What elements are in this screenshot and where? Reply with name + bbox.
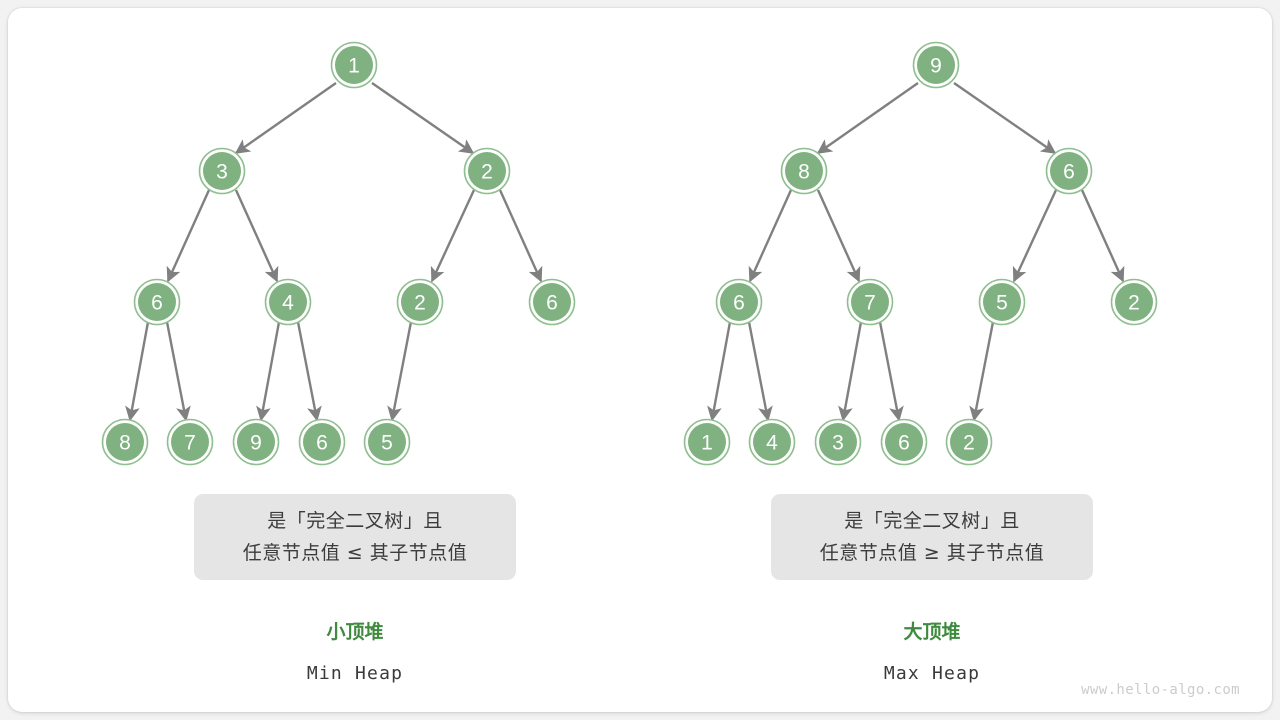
max-heap-caption-box: 是「完全二叉树」且 任意节点值 ≥ 其子节点值	[771, 494, 1093, 580]
node-value: 3	[216, 161, 228, 184]
node-value: 9	[930, 55, 942, 78]
right-tree-node-2: 8	[782, 149, 827, 194]
node-value: 6	[151, 292, 163, 315]
left-tree-node-3: 2	[465, 149, 510, 194]
left-tree-node-6: 2	[398, 280, 443, 325]
node-value: 5	[996, 292, 1008, 315]
left-tree-node-9: 7	[168, 420, 213, 465]
right-tree-node-3: 6	[1047, 149, 1092, 194]
min-heap-caption-box: 是「完全二叉树」且 任意节点值 ≤ 其子节点值	[194, 494, 516, 580]
right-tree-node-10: 3	[816, 420, 861, 465]
node-value: 7	[864, 292, 876, 315]
left-tree-node-8: 8	[103, 420, 148, 465]
node-value: 6	[316, 432, 328, 455]
right-tree-node-4: 6	[717, 280, 762, 325]
min-heap-caption-line-2: 任意节点值 ≤ 其子节点值	[243, 537, 468, 569]
right-tree-node-11: 6	[882, 420, 927, 465]
left-tree-node-10: 9	[234, 420, 279, 465]
max-heap-caption-line-2: 任意节点值 ≥ 其子节点值	[820, 537, 1045, 569]
max-heap-title-zh: 大顶堆	[771, 617, 1093, 644]
max-heap-caption-line-1: 是「完全二叉树」且	[844, 505, 1020, 537]
node-value: 2	[1128, 292, 1140, 315]
right-tree-node-7: 2	[1112, 280, 1157, 325]
node-value: 5	[381, 432, 393, 455]
max-heap-title-en: Max Heap	[771, 663, 1093, 684]
watermark: www.hello-algo.com	[1081, 682, 1240, 698]
node-value: 7	[184, 432, 196, 455]
left-tree-node-5: 4	[266, 280, 311, 325]
left-tree-node-2: 3	[200, 149, 245, 194]
right-tree-edges	[712, 83, 1123, 420]
right-tree-node-1: 9	[914, 43, 959, 88]
node-value: 2	[414, 292, 426, 315]
right-tree-node-9: 4	[750, 420, 795, 465]
left-tree-node-7: 6	[530, 280, 575, 325]
left-tree-node-12: 5	[365, 420, 410, 465]
diagram-canvas: 1 3 2 6 4 2 6	[0, 0, 1280, 720]
node-value: 6	[898, 432, 910, 455]
min-heap-caption-line-1: 是「完全二叉树」且	[267, 505, 443, 537]
right-tree-node-8: 1	[685, 420, 730, 465]
node-value: 2	[963, 432, 975, 455]
node-value: 8	[798, 161, 810, 184]
min-heap-title-en: Min Heap	[194, 663, 516, 684]
heap-trees-svg: 1 3 2 6 4 2 6	[0, 0, 1280, 720]
min-heap-title-zh: 小顶堆	[194, 617, 516, 644]
node-value: 1	[701, 432, 713, 455]
right-tree-node-12: 2	[947, 420, 992, 465]
node-value: 6	[733, 292, 745, 315]
node-value: 8	[119, 432, 131, 455]
left-tree-edges	[130, 83, 541, 420]
node-value: 2	[481, 161, 493, 184]
node-value: 3	[832, 432, 844, 455]
node-value: 1	[348, 55, 360, 78]
node-value: 4	[766, 432, 778, 455]
node-value: 6	[1063, 161, 1075, 184]
node-value: 4	[282, 292, 294, 315]
left-tree-node-11: 6	[300, 420, 345, 465]
left-tree-node-1: 1	[332, 43, 377, 88]
node-value: 6	[546, 292, 558, 315]
right-tree-node-5: 7	[848, 280, 893, 325]
node-value: 9	[250, 432, 262, 455]
left-tree-node-4: 6	[135, 280, 180, 325]
right-tree-node-6: 5	[980, 280, 1025, 325]
